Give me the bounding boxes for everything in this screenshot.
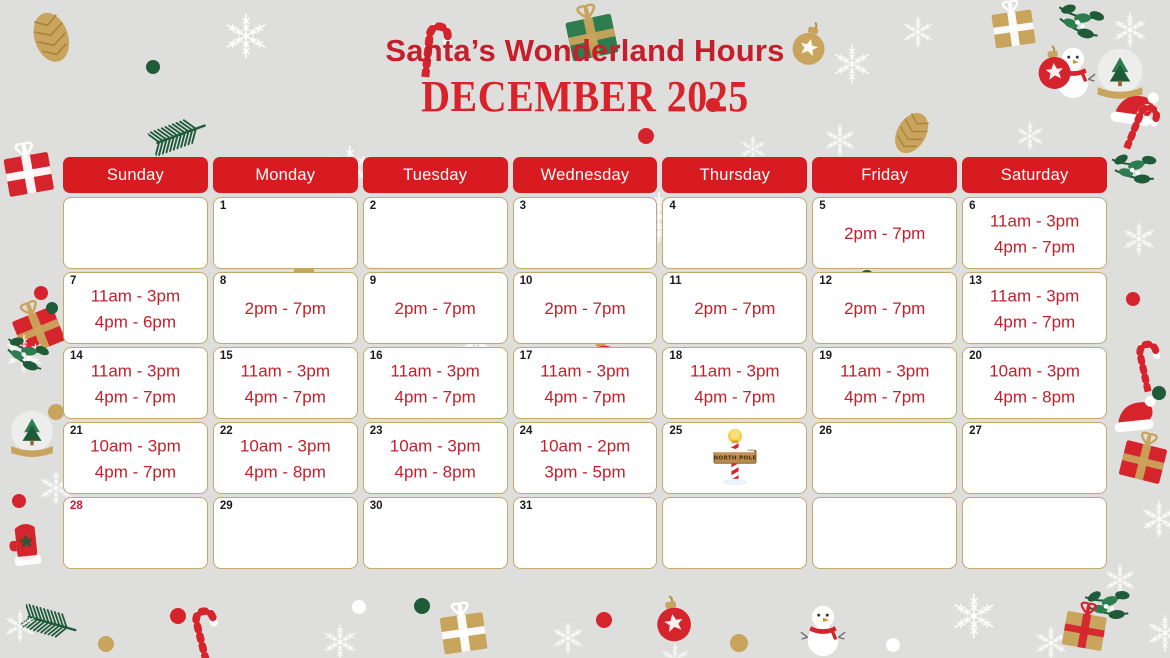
- day-hours: 2pm - 7pm: [364, 294, 507, 322]
- calendar-weeks: 123452pm - 7pm611am - 3pm4pm - 7pm711am …: [63, 197, 1107, 569]
- calendar-day-cell-5[interactable]: 52pm - 7pm: [812, 197, 957, 269]
- day-hours: 2pm - 7pm: [514, 294, 657, 322]
- hours-line: 11am - 3pm: [963, 209, 1106, 235]
- hours-line: 11am - 3pm: [364, 359, 507, 385]
- day-hours: 11am - 3pm4pm - 7pm: [514, 355, 657, 412]
- snow-globe-icon: [6, 408, 58, 463]
- weekday-header-sunday: Sunday: [63, 157, 208, 193]
- calendar-day-cell-27[interactable]: 27: [962, 422, 1107, 494]
- calendar-day-cell-4[interactable]: 4: [662, 197, 807, 269]
- weekday-header-tuesday: Tuesday: [363, 157, 508, 193]
- calendar-day-cell-22[interactable]: 2210am - 3pm4pm - 8pm: [213, 422, 358, 494]
- page-title: Santa’s Wonderland Hours: [0, 34, 1170, 68]
- mistletoe-icon: [1106, 147, 1164, 196]
- calendar-week-row: 2110am - 3pm4pm - 7pm2210am - 3pm4pm - 8…: [63, 422, 1107, 494]
- calendar-day-cell-7[interactable]: 711am - 3pm4pm - 6pm: [63, 272, 208, 344]
- hours-line: 3pm - 5pm: [514, 460, 657, 486]
- calendar-day-cell-25[interactable]: 25NORTH POLE: [662, 422, 807, 494]
- confetti-dot: [12, 494, 26, 508]
- confetti-dot: [596, 612, 612, 628]
- hours-line: 2pm - 7pm: [514, 296, 657, 322]
- hours-line: 11am - 3pm: [64, 284, 207, 310]
- snowflake-icon: [0, 606, 40, 646]
- hours-line: 4pm - 7pm: [663, 385, 806, 411]
- gift-box-icon: [1056, 598, 1114, 656]
- gift-box-icon: [1112, 426, 1170, 489]
- weekday-header-thursday: Thursday: [662, 157, 807, 193]
- day-number: 31: [520, 500, 533, 514]
- hours-line: 4pm - 6pm: [64, 310, 207, 336]
- day-hours: 11am - 3pm4pm - 7pm: [813, 355, 956, 412]
- confetti-dot: [730, 634, 748, 652]
- day-hours: 11am - 3pm4pm - 7pm: [663, 355, 806, 412]
- hours-line: 11am - 3pm: [963, 284, 1106, 310]
- candy-cane-icon: [181, 593, 230, 658]
- calendar-day-cell-empty: [812, 497, 957, 569]
- day-hours: 11am - 3pm4pm - 6pm: [64, 280, 207, 337]
- candy-cane-icon: [1126, 327, 1170, 393]
- snowflake-icon: [1142, 610, 1170, 656]
- calendar-day-cell-12[interactable]: 122pm - 7pm: [812, 272, 957, 344]
- ornament-icon: [648, 589, 698, 648]
- calendar-grid: SundayMondayTuesdayWednesdayThursdayFrid…: [63, 157, 1107, 572]
- hours-line: 11am - 3pm: [813, 359, 956, 385]
- day-number: 10: [520, 275, 533, 289]
- day-number: 9: [370, 275, 376, 289]
- calendar-day-cell-empty: [63, 197, 208, 269]
- hours-line: 4pm - 7pm: [364, 385, 507, 411]
- calendar-day-cell-30[interactable]: 30: [363, 497, 508, 569]
- day-hours: 10am - 3pm4pm - 8pm: [364, 430, 507, 487]
- hours-line: 10am - 3pm: [214, 434, 357, 460]
- confetti-dot: [886, 638, 900, 652]
- hours-line: 11am - 3pm: [214, 359, 357, 385]
- day-hours: 2pm - 7pm: [663, 294, 806, 322]
- weekday-header-saturday: Saturday: [962, 157, 1107, 193]
- svg-text:NORTH POLE: NORTH POLE: [713, 456, 756, 462]
- santa-hat-icon: [1108, 394, 1160, 440]
- hours-line: 4pm - 7pm: [214, 385, 357, 411]
- snowflake-icon: [0, 330, 48, 378]
- calendar-day-cell-empty: [962, 497, 1107, 569]
- calendar-week-row: 123452pm - 7pm611am - 3pm4pm - 7pm: [63, 197, 1107, 269]
- day-number: 5: [819, 200, 825, 214]
- day-number: 12: [819, 275, 832, 289]
- gift-box-icon: [2, 292, 72, 362]
- hours-line: 10am - 2pm: [514, 434, 657, 460]
- confetti-dot: [46, 302, 58, 314]
- calendar-day-cell-1[interactable]: 1: [213, 197, 358, 269]
- day-hours: 11am - 3pm4pm - 7pm: [214, 355, 357, 412]
- hours-line: 10am - 3pm: [364, 434, 507, 460]
- day-number: 26: [819, 425, 832, 439]
- day-hours: 11am - 3pm4pm - 7pm: [963, 205, 1106, 262]
- mistletoe-icon: [1079, 582, 1140, 634]
- confetti-dot: [1126, 292, 1140, 306]
- day-hours: 10am - 3pm4pm - 8pm: [963, 355, 1106, 412]
- north-pole-sign-icon: NORTH POLE: [704, 428, 766, 490]
- calendar-day-cell-26[interactable]: 26: [812, 422, 957, 494]
- calendar-day-cell-2[interactable]: 2: [363, 197, 508, 269]
- weekday-header-row: SundayMondayTuesdayWednesdayThursdayFrid…: [63, 157, 1107, 193]
- day-number: 25: [669, 425, 682, 439]
- day-hours: 10am - 3pm4pm - 8pm: [214, 430, 357, 487]
- confetti-dot: [352, 600, 366, 614]
- hours-line: 2pm - 7pm: [663, 296, 806, 322]
- snowflake-icon: [548, 618, 588, 658]
- calendar-day-cell-8[interactable]: 82pm - 7pm: [213, 272, 358, 344]
- calendar-day-cell-14[interactable]: 1411am - 3pm4pm - 7pm: [63, 347, 208, 419]
- day-number: 11: [669, 275, 681, 289]
- calendar-day-cell-18[interactable]: 1811am - 3pm4pm - 7pm: [662, 347, 807, 419]
- calendar-day-cell-empty: [662, 497, 807, 569]
- mitten-icon: [3, 512, 48, 570]
- day-number: 1: [220, 200, 226, 214]
- gift-box-icon: [433, 599, 494, 658]
- hours-line: 4pm - 8pm: [963, 385, 1106, 411]
- hours-line: 2pm - 7pm: [813, 296, 956, 322]
- hours-line: 2pm - 7pm: [813, 221, 956, 247]
- calendar-day-cell-29[interactable]: 29: [213, 497, 358, 569]
- mistletoe-icon: [0, 331, 56, 382]
- confetti-dot: [34, 286, 48, 300]
- gift-box-icon: [0, 138, 60, 203]
- day-hours: 2pm - 7pm: [813, 219, 956, 247]
- calendar-week-row: 1411am - 3pm4pm - 7pm1511am - 3pm4pm - 7…: [63, 347, 1107, 419]
- day-number: 30: [370, 500, 383, 514]
- hours-line: 4pm - 7pm: [514, 385, 657, 411]
- weekday-header-wednesday: Wednesday: [513, 157, 658, 193]
- snowflake-icon: [820, 120, 860, 160]
- hours-line: 11am - 3pm: [663, 359, 806, 385]
- calendar-day-cell-16[interactable]: 1611am - 3pm4pm - 7pm: [363, 347, 508, 419]
- weekday-header-monday: Monday: [213, 157, 358, 193]
- calendar-day-cell-21[interactable]: 2110am - 3pm4pm - 7pm: [63, 422, 208, 494]
- confetti-dot: [170, 608, 186, 624]
- calendar-day-cell-23[interactable]: 2310am - 3pm4pm - 8pm: [363, 422, 508, 494]
- day-number: 4: [669, 200, 675, 214]
- weekday-header-friday: Friday: [812, 157, 957, 193]
- snowflake-icon: [1136, 496, 1170, 542]
- confetti-dot: [638, 128, 654, 144]
- calendar-day-cell-10[interactable]: 102pm - 7pm: [513, 272, 658, 344]
- hours-line: 11am - 3pm: [64, 359, 207, 385]
- day-hours: 10am - 2pm3pm - 5pm: [514, 430, 657, 487]
- day-number: 29: [220, 500, 233, 514]
- snowflake-icon: [1030, 622, 1072, 658]
- hours-line: 4pm - 7pm: [813, 385, 956, 411]
- calendar-day-cell-6[interactable]: 611am - 3pm4pm - 7pm: [962, 197, 1107, 269]
- day-number: 2: [370, 200, 376, 214]
- month-title: DECEMBER 2025: [0, 73, 1170, 120]
- snowman-icon: [800, 598, 846, 658]
- calendar-day-cell-3[interactable]: 3: [513, 197, 658, 269]
- confetti-dot: [48, 404, 64, 420]
- snowflake-icon: [318, 620, 362, 658]
- calendar-week-row: 28293031: [63, 497, 1107, 569]
- day-number: 28: [70, 500, 83, 514]
- day-number: 3: [520, 200, 526, 214]
- day-hours: 10am - 3pm4pm - 7pm: [64, 430, 207, 487]
- day-hours: 2pm - 7pm: [214, 294, 357, 322]
- calendar-day-cell-9[interactable]: 92pm - 7pm: [363, 272, 508, 344]
- page-title-block: Santa’s Wonderland Hours DECEMBER 2025: [0, 34, 1170, 115]
- hours-line: 4pm - 7pm: [64, 385, 207, 411]
- hours-line: 4pm - 7pm: [963, 235, 1106, 261]
- day-number: 8: [220, 275, 226, 289]
- hours-line: 10am - 3pm: [64, 434, 207, 460]
- snowflake-icon: [1118, 218, 1160, 260]
- day-number: 27: [969, 425, 982, 439]
- snowflake-icon: [1012, 118, 1048, 154]
- calendar-page: Santa’s Wonderland Hours DECEMBER 2025 S…: [0, 0, 1170, 658]
- confetti-dot: [414, 598, 430, 614]
- pine-branch-icon: [17, 593, 88, 655]
- calendar-day-cell-24[interactable]: 2410am - 2pm3pm - 5pm: [513, 422, 658, 494]
- calendar-day-cell-11[interactable]: 112pm - 7pm: [662, 272, 807, 344]
- confetti-dot: [98, 636, 114, 652]
- day-hours: 2pm - 7pm: [813, 294, 956, 322]
- confetti-dot: [1152, 386, 1166, 400]
- calendar-day-cell-13[interactable]: 1311am - 3pm4pm - 7pm: [962, 272, 1107, 344]
- calendar-day-cell-19[interactable]: 1911am - 3pm4pm - 7pm: [812, 347, 957, 419]
- hours-line: 10am - 3pm: [963, 359, 1106, 385]
- snowflake-icon: [946, 588, 1002, 644]
- hours-line: 4pm - 7pm: [64, 460, 207, 486]
- hours-line: 2pm - 7pm: [364, 296, 507, 322]
- calendar-day-cell-31[interactable]: 31: [513, 497, 658, 569]
- calendar-week-row: 711am - 3pm4pm - 6pm82pm - 7pm92pm - 7pm…: [63, 272, 1107, 344]
- day-hours: 11am - 3pm4pm - 7pm: [364, 355, 507, 412]
- hours-line: 4pm - 8pm: [214, 460, 357, 486]
- snowflake-icon: [656, 640, 694, 658]
- calendar-day-cell-17[interactable]: 1711am - 3pm4pm - 7pm: [513, 347, 658, 419]
- calendar-day-cell-15[interactable]: 1511am - 3pm4pm - 7pm: [213, 347, 358, 419]
- hours-line: 4pm - 7pm: [963, 310, 1106, 336]
- day-hours: 11am - 3pm4pm - 7pm: [64, 355, 207, 412]
- day-hours: 11am - 3pm4pm - 7pm: [963, 280, 1106, 337]
- calendar-day-cell-28[interactable]: 28: [63, 497, 208, 569]
- hours-line: 2pm - 7pm: [214, 296, 357, 322]
- hours-line: 11am - 3pm: [514, 359, 657, 385]
- hours-line: 4pm - 8pm: [364, 460, 507, 486]
- calendar-day-cell-20[interactable]: 2010am - 3pm4pm - 8pm: [962, 347, 1107, 419]
